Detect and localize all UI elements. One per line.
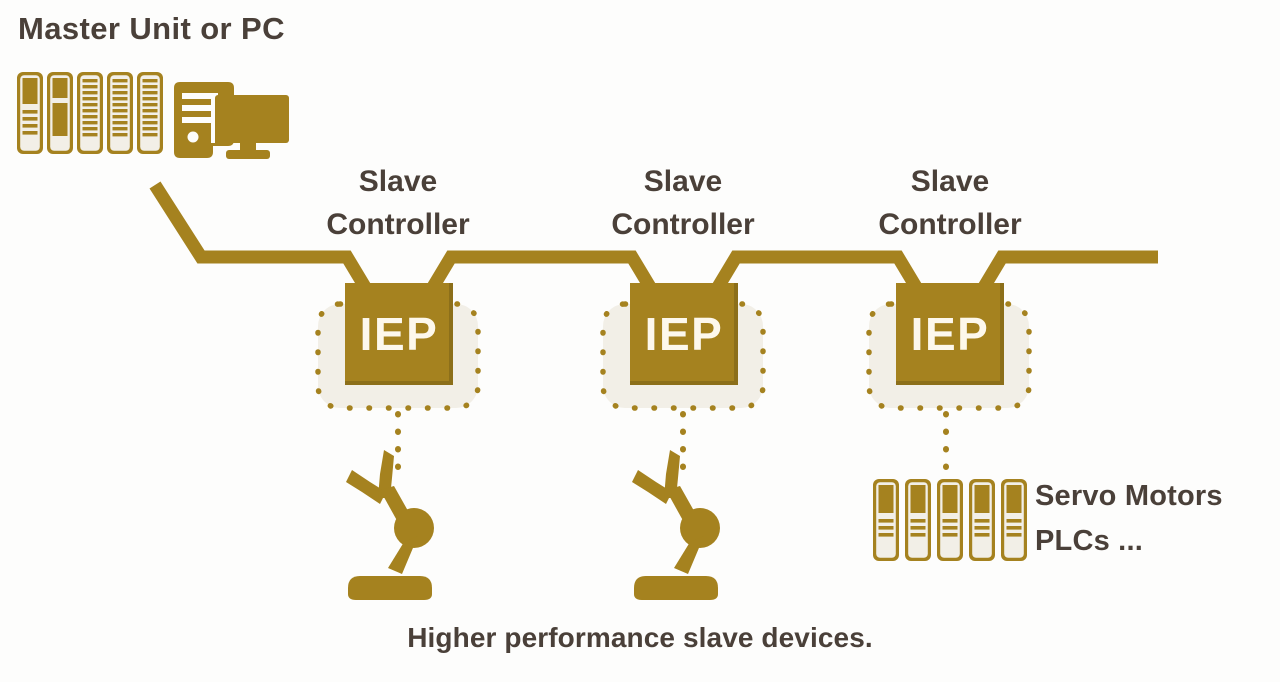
slave-controller-label-3: Slave Controller bbox=[820, 161, 1080, 246]
iep-box-label-1: IEP bbox=[345, 311, 453, 357]
computer-pc-icon bbox=[174, 82, 289, 159]
slave-controller-label-1: Slave Controller bbox=[268, 161, 528, 246]
robot-arm-icon bbox=[632, 450, 720, 600]
diagram-caption: Higher performance slave devices. bbox=[0, 622, 1280, 653]
servo-motors-plcs-label: Servo Motors PLCs ... bbox=[1035, 474, 1223, 564]
plc-rack-icon bbox=[873, 479, 1027, 561]
robot-arm-icon bbox=[346, 450, 434, 600]
iep-box-label-3: IEP bbox=[896, 311, 1004, 357]
iep-box-label-2: IEP bbox=[630, 311, 738, 357]
plc-rack-icon bbox=[17, 72, 163, 154]
diagram-canvas: Master Unit or PC bbox=[0, 0, 1280, 682]
slave-controller-label-2: Slave Controller bbox=[553, 161, 813, 246]
